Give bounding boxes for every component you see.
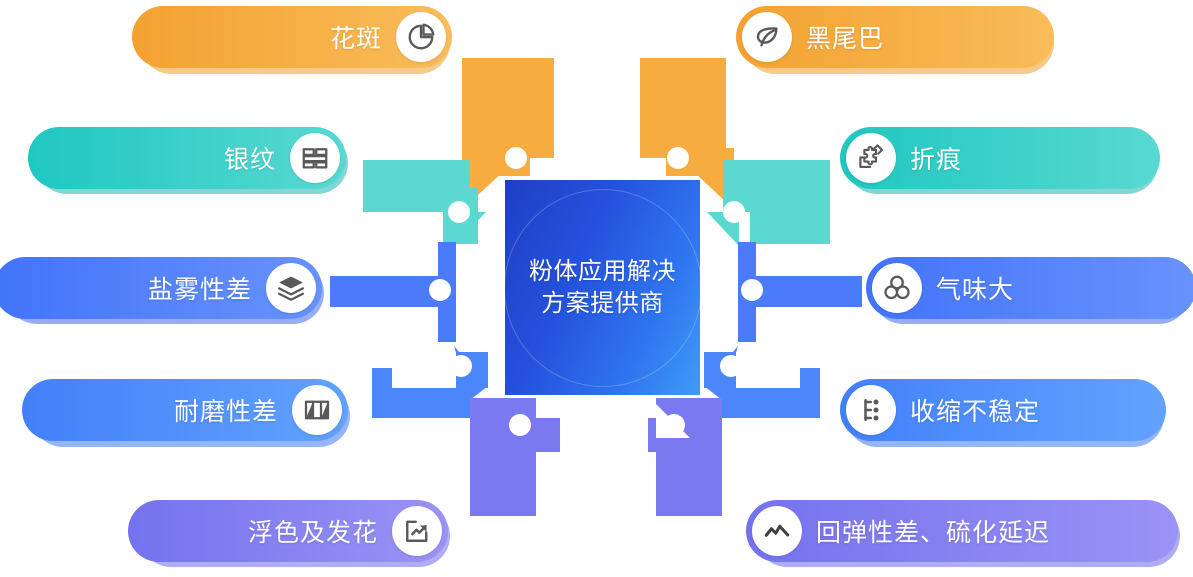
pill-item-2[interactable]: 黑尾巴 [736,6,1054,68]
pill-label-4: 折痕 [910,140,962,176]
trending-up-box-icon [392,506,442,556]
layers-icon [266,263,316,313]
pill-item-1[interactable]: 花斑 [132,6,452,68]
pill-label-2: 黑尾巴 [806,19,884,55]
pill-label-6: 气味大 [936,270,1014,306]
pill-label-8: 收缩不稳定 [910,392,1040,428]
pie-chart-icon [396,12,446,62]
center-hub-title: 粉体应用解决 方案提供商 [529,256,676,320]
connector-item-10 [648,398,722,516]
pill-item-6[interactable]: 气味大 [866,257,1193,319]
pill-label-7: 耐磨性差 [174,392,278,428]
pill-label-1: 花斑 [330,19,382,55]
brick-wall-icon [290,133,340,183]
center-hub: 粉体应用解决 方案提供商 [505,180,700,395]
pill-item-3[interactable]: 银纹 [28,127,346,189]
pill-item-10[interactable]: 回弹性差、硫化延迟 [746,500,1178,562]
connector-item-5 [330,242,456,342]
pill-label-5: 盐雾性差 [148,270,252,306]
connector-item-9 [470,398,560,516]
puzzle-piece-icon [846,133,896,183]
pill-item-4[interactable]: 折痕 [840,127,1160,189]
connector-item-7 [372,346,488,418]
pill-label-9: 浮色及发花 [248,513,378,549]
pill-item-9[interactable]: 浮色及发花 [128,500,448,562]
recycle-icon [872,263,922,313]
leaf-icon [742,12,792,62]
infographic-canvas: 粉体应用解决 方案提供商 花斑 黑尾巴 银纹 [0,0,1193,577]
pill-label-10: 回弹性差、硫化延迟 [816,513,1050,549]
connector-item-3 [363,160,486,246]
node-tree-icon [846,385,896,435]
connector-item-4 [707,160,830,246]
pill-item-8[interactable]: 收缩不稳定 [840,379,1166,441]
pill-item-5[interactable]: 盐雾性差 [0,257,322,319]
connector-item-6 [738,242,862,342]
line-chart-icon [752,506,802,556]
connector-item-8 [704,346,820,418]
pill-label-3: 银纹 [224,140,276,176]
open-book-icon [292,385,342,435]
pill-item-7[interactable]: 耐磨性差 [22,379,348,441]
